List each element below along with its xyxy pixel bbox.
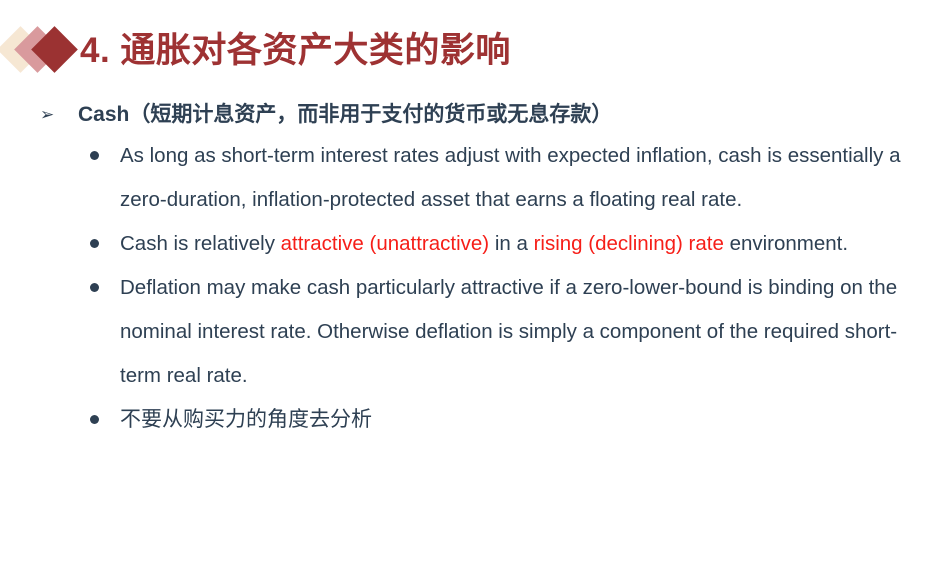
dot-bullet-icon bbox=[90, 151, 99, 160]
dot-bullet-icon bbox=[90, 283, 99, 292]
slide-title-row: 4. 通胀对各资产大类的影响 bbox=[0, 22, 511, 78]
level1-bullet-cash: ➢ Cash（短期计息资产，而非用于支付的货币或无息存款） bbox=[0, 100, 928, 130]
slide-canvas: 4. 通胀对各资产大类的影响 ➢ Cash（短期计息资产，而非用于支付的货币或无… bbox=[0, 0, 928, 572]
list-item: As long as short-term interest rates adj… bbox=[0, 134, 928, 222]
bullet-2-part-c: in a bbox=[489, 232, 533, 255]
arrow-bullet-icon: ➢ bbox=[40, 100, 54, 130]
level1-label-en: Cash bbox=[78, 103, 129, 126]
level1-label-cn: （短期计息资产，而非用于支付的货币或无息存款） bbox=[129, 103, 612, 126]
dot-bullet-icon bbox=[90, 239, 99, 248]
diamond-decoration-icon bbox=[4, 26, 78, 74]
list-item: 不要从购买力的角度去分析 bbox=[0, 398, 928, 442]
bullet-text-3: Deflation may make cash particularly att… bbox=[120, 266, 908, 398]
bullet-text-2: Cash is relatively attractive (unattract… bbox=[120, 222, 908, 266]
list-item: Cash is relatively attractive (unattract… bbox=[0, 222, 928, 266]
page-title: 4. 通胀对各资产大类的影响 bbox=[80, 33, 511, 68]
dot-bullet-icon bbox=[90, 415, 99, 424]
bullet-2-highlight-rising: rising (declining) rate bbox=[534, 232, 724, 255]
bullet-text-4: 不要从购买力的角度去分析 bbox=[120, 398, 908, 442]
bullet-2-part-a: Cash is relatively bbox=[120, 232, 281, 255]
bullet-2-highlight-attractive: attractive (unattractive) bbox=[281, 232, 490, 255]
bullet-text-1: As long as short-term interest rates adj… bbox=[120, 134, 908, 222]
bullet-2-part-e: environment. bbox=[724, 232, 848, 255]
list-item: Deflation may make cash particularly att… bbox=[0, 266, 928, 398]
slide-body: ➢ Cash（短期计息资产，而非用于支付的货币或无息存款） As long as… bbox=[0, 100, 928, 442]
